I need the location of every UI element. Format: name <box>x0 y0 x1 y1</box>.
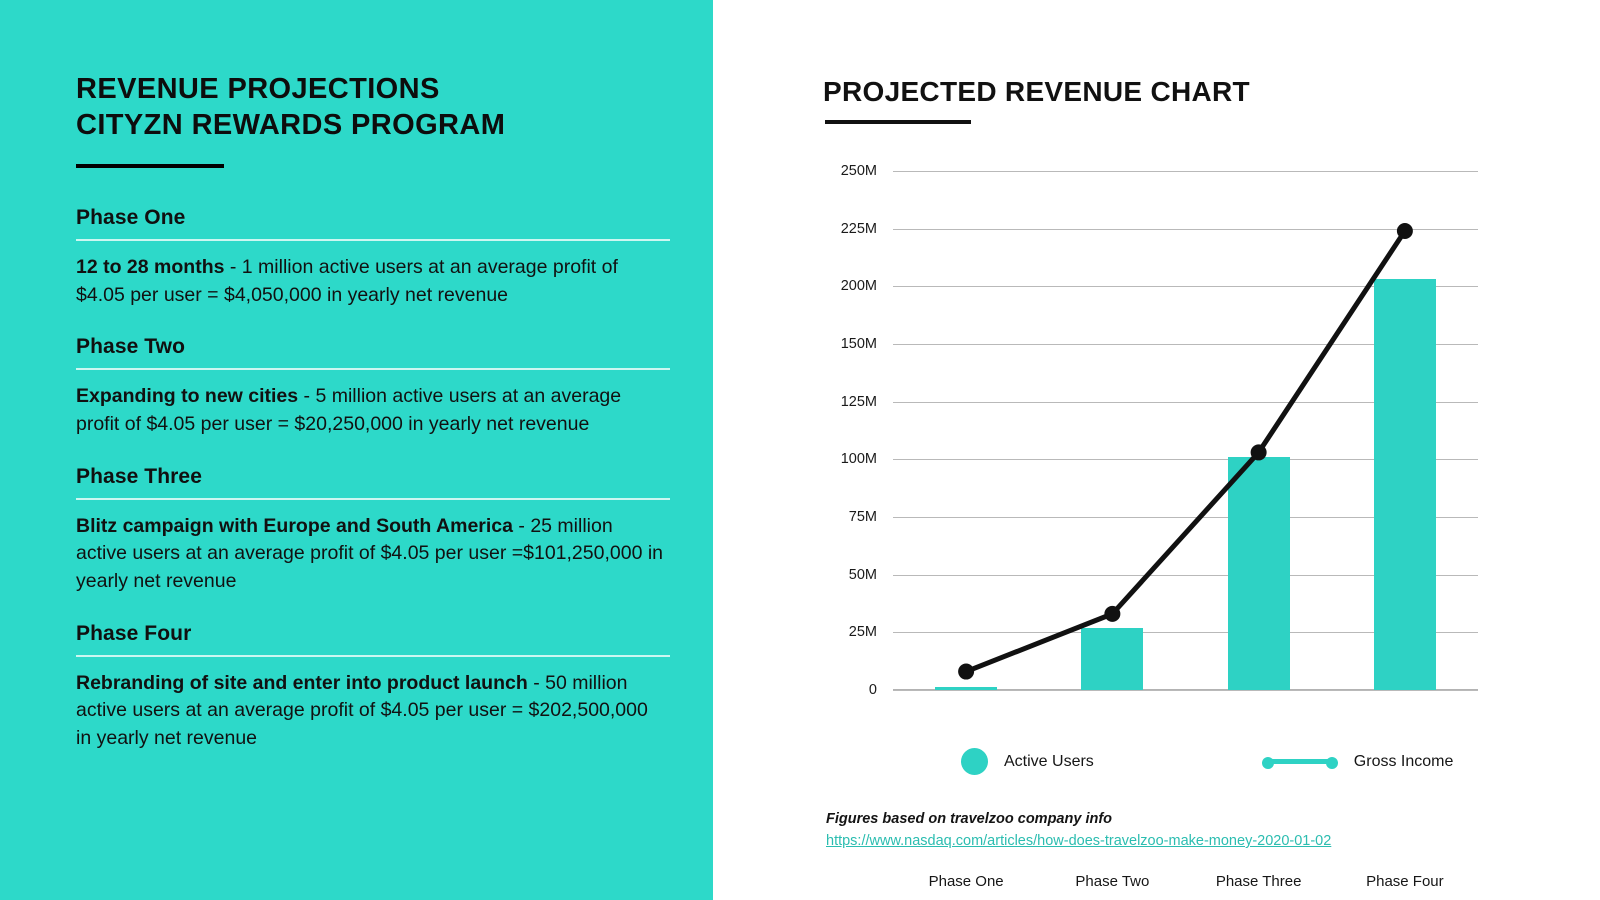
gross-income-line-series <box>893 171 1478 690</box>
y-axis-tick-label: 200M <box>841 278 877 294</box>
y-axis-tick-label: 225M <box>841 221 877 237</box>
y-axis-tick-label: 0 <box>869 682 877 698</box>
circle-marker-icon <box>961 748 988 775</box>
phase-body-lead: Expanding to new cities <box>76 385 298 407</box>
y-axis-tick-label: 75M <box>849 509 877 525</box>
y-axis-tick-label: 25M <box>849 624 877 640</box>
y-axis-tick-label: 150M <box>841 336 877 352</box>
phase-divider <box>76 239 670 241</box>
line-data-point-phase-four <box>1397 223 1413 239</box>
legend-item-active-users: Active Users <box>961 748 1094 775</box>
chart-title-underline-rule <box>825 120 971 124</box>
infographic-page: REVENUE PROJECTIONS CITYZN REWARDS PROGR… <box>0 0 1600 900</box>
page-title-line-1: REVENUE PROJECTIONS <box>76 72 667 108</box>
x-axis-tick-label: Phase Four <box>1366 873 1444 890</box>
phase-body: Blitz campaign with Europe and South Ame… <box>76 513 667 596</box>
phase-body-lead: 12 to 28 months <box>76 256 224 278</box>
phase-block-one: Phase One 12 to 28 months - 1 million ac… <box>76 206 667 309</box>
phase-heading: Phase Two <box>76 335 667 359</box>
line-segment <box>1269 759 1331 764</box>
legend-item-gross-income: Gross Income <box>1262 748 1454 775</box>
legend-label: Active Users <box>1004 753 1094 771</box>
page-title-line-2: CITYZN REWARDS PROGRAM <box>76 108 667 144</box>
line-path <box>966 231 1405 672</box>
phase-body: Rebranding of site and enter into produc… <box>76 670 667 753</box>
phase-body-lead: Blitz campaign with Europe and South Ame… <box>76 515 513 537</box>
phase-block-two: Phase Two Expanding to new cities - 5 mi… <box>76 335 667 438</box>
phase-divider <box>76 655 670 657</box>
gridline <box>893 690 1478 691</box>
source-link[interactable]: https://www.nasdaq.com/articles/how-does… <box>826 833 1331 849</box>
line-marker-icon <box>1262 748 1338 775</box>
phase-block-four: Phase Four Rebranding of site and enter … <box>76 622 667 753</box>
y-axis-tick-label: 100M <box>841 451 877 467</box>
chart-plot-area: 025M50M75M100M125M150M200M225M250MPhase … <box>893 171 1478 690</box>
y-axis-tick-label: 250M <box>841 163 877 179</box>
phase-block-three: Phase Three Blitz campaign with Europe a… <box>76 465 667 596</box>
chart-title: PROJECTED REVENUE CHART <box>823 76 1250 108</box>
x-axis-tick-label: Phase One <box>929 873 1004 890</box>
chart-footer: Figures based on travelzoo company info … <box>826 811 1331 849</box>
chart-legend: Active Users Gross Income <box>961 748 1453 775</box>
line-dot-left <box>1262 757 1274 769</box>
line-data-point-phase-two <box>1104 606 1120 622</box>
phase-divider <box>76 498 670 500</box>
phase-body: Expanding to new cities - 5 million acti… <box>76 383 667 438</box>
source-note: Figures based on travelzoo company info <box>826 811 1331 827</box>
phase-body: 12 to 28 months - 1 million active users… <box>76 254 667 309</box>
y-axis-tick-label: 50M <box>849 567 877 583</box>
phase-heading: Phase Three <box>76 465 667 489</box>
phase-divider <box>76 368 670 370</box>
x-axis-tick-label: Phase Two <box>1075 873 1149 890</box>
left-panel: REVENUE PROJECTIONS CITYZN REWARDS PROGR… <box>0 0 713 900</box>
y-axis-tick-label: 125M <box>841 394 877 410</box>
line-dot-right <box>1326 757 1338 769</box>
title-underline-rule <box>76 164 224 168</box>
phase-body-lead: Rebranding of site and enter into produc… <box>76 672 528 694</box>
phase-heading: Phase Four <box>76 622 667 646</box>
phase-heading: Phase One <box>76 206 667 230</box>
legend-label: Gross Income <box>1354 753 1454 771</box>
x-axis-tick-label: Phase Three <box>1216 873 1302 890</box>
line-data-point-phase-three <box>1251 444 1267 460</box>
right-panel: PROJECTED REVENUE CHART 025M50M75M100M12… <box>713 0 1600 900</box>
line-data-point-phase-one <box>958 664 974 680</box>
page-title: REVENUE PROJECTIONS CITYZN REWARDS PROGR… <box>76 72 667 144</box>
